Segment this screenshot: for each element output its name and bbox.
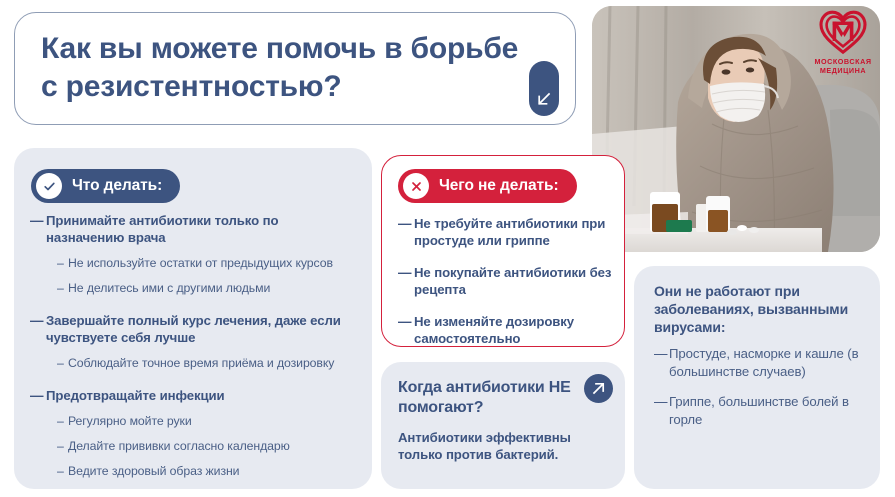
list-item: — Предотвращайте инфекции — [30, 387, 360, 404]
list-subitem-label: Соблюдайте точное время приёма и дозиров… — [68, 355, 334, 371]
list-item-label: Не покупайте антибиотики без рецепта — [414, 264, 613, 298]
list-item: — Завершайте полный курс лечения, даже е… — [30, 312, 360, 346]
dash-marker: — — [30, 387, 46, 404]
logo: МОСКОВСКАЯ МЕДИЦИНА — [806, 9, 880, 81]
what-to-do-list: — Принимайте антибиотики только по назна… — [30, 212, 360, 488]
list-item-label: Завершайте полный курс лечения, даже есл… — [46, 312, 360, 346]
dash-marker: – — [57, 280, 68, 296]
list-subitem-label: Не делитесь ими с другими людьми — [68, 280, 270, 296]
badge-what-not-to-do-label: Чего не делать: — [439, 177, 559, 195]
list-subitem: – Регулярно мойте руки — [30, 413, 360, 429]
dash-marker: — — [398, 313, 414, 330]
list-item-label: Не изменяйте дозировку самостоятельно — [414, 313, 613, 347]
when-antibiotics-heading: Когда антибиотики НЕ помогают? — [398, 378, 578, 418]
list-subitem: – Не используйте остатки от предыдущих к… — [30, 255, 360, 271]
dash-marker: – — [57, 438, 68, 454]
arrow-up-right-button[interactable] — [584, 374, 613, 403]
list-item: — Не изменяйте дозировку самостоятельно — [398, 313, 613, 347]
list-item-label: Не требуйте антибиотики при простуде или… — [414, 215, 613, 249]
arrow-up-right-icon — [591, 381, 606, 396]
list-subitem-label: Ведите здоровый образ жизни — [68, 463, 239, 479]
list-group-gap — [30, 380, 360, 387]
check-circle-icon — [36, 173, 62, 199]
list-subitem: – Делайте прививки согласно календарю — [30, 438, 360, 454]
arrow-down-left-button[interactable] — [529, 61, 559, 116]
arrow-down-left-icon — [536, 91, 552, 107]
infographic-canvas: Как вы можете помочь в борьбе с резистен… — [0, 0, 895, 497]
logo-line-2: МЕДИЦИНА — [806, 66, 880, 75]
dash-marker: – — [57, 255, 68, 271]
x-circle-icon — [403, 173, 429, 199]
badge-what-to-do-label: Что делать: — [72, 177, 162, 195]
when-antibiotics-body: Антибиотики эффективны только против бак… — [398, 429, 598, 463]
viral-diseases-heading: Они не работают при заболеваниях, вызван… — [654, 282, 869, 336]
dash-marker: — — [398, 264, 414, 281]
heart-m-logo-icon — [818, 9, 868, 55]
dash-marker: — — [398, 215, 414, 232]
what-not-to-do-list: — Не требуйте антибиотики при простуде и… — [398, 215, 613, 362]
list-item: — Принимайте антибиотики только по назна… — [30, 212, 360, 246]
list-subitem: – Ведите здоровый образ жизни — [30, 463, 360, 479]
list-subitem: – Соблюдайте точное время приёма и дозир… — [30, 355, 360, 371]
list-subitem-label: Регулярно мойте руки — [68, 413, 192, 429]
dash-marker: — — [30, 312, 46, 329]
viral-diseases-list: — Простуде, насморке и кашле (в большинс… — [654, 345, 869, 441]
list-item: — Простуде, насморке и кашле (в большинс… — [654, 345, 869, 380]
list-subitem-label: Не используйте остатки от предыдущих кур… — [68, 255, 333, 271]
dash-marker: — — [30, 212, 46, 229]
list-item-label: Гриппе, большинстве болей в горле — [669, 393, 869, 428]
badge-what-not-to-do: Чего не делать: — [398, 169, 577, 203]
title-card: Как вы можете помочь в борьбе с резистен… — [14, 12, 576, 125]
logo-line-1: МОСКОВСКАЯ — [806, 57, 880, 66]
list-item-label: Принимайте антибиотики только по назначе… — [46, 212, 360, 246]
list-item: — Гриппе, большинстве болей в горле — [654, 393, 869, 428]
dash-marker: – — [57, 355, 68, 371]
page-title: Как вы можете помочь в борьбе с резистен… — [41, 30, 541, 106]
list-item: — Не покупайте антибиотики без рецепта — [398, 264, 613, 298]
dash-marker: — — [654, 345, 669, 363]
badge-what-to-do: Что делать: — [31, 169, 180, 203]
list-item-label: Предотвращайте инфекции — [46, 387, 225, 404]
dash-marker: — — [654, 393, 669, 411]
list-item: — Не требуйте антибиотики при простуде и… — [398, 215, 613, 249]
list-group-gap — [30, 305, 360, 312]
list-subitem-label: Делайте прививки согласно календарю — [68, 438, 290, 454]
list-item-label: Простуде, насморке и кашле (в большинств… — [669, 345, 869, 380]
list-subitem: – Не делитесь ими с другими людьми — [30, 280, 360, 296]
dash-marker: – — [57, 413, 68, 429]
dash-marker: – — [57, 463, 68, 479]
